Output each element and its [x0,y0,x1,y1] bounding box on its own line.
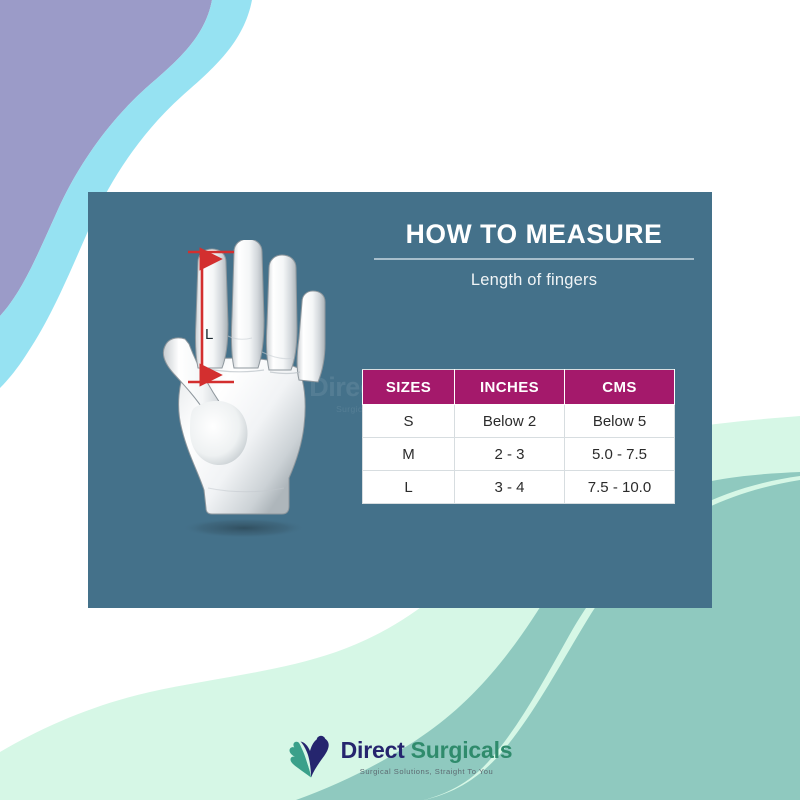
cell-cms: 7.5 - 10.0 [565,471,675,504]
finger-index [195,249,228,368]
cell-inches: 2 - 3 [455,438,565,471]
hand-shadow [182,518,306,538]
screenshot-canvas: Direct Surgicals Surgical Solutions, Str… [0,0,800,800]
table-row: M 2 - 3 5.0 - 7.5 [363,438,675,471]
cell-cms: Below 5 [565,405,675,438]
logo-text-block: DirectSurgicals Surgical Solutions, Stra… [341,739,513,776]
measure-label-L: L [205,327,213,342]
hand-illustration: L [132,240,352,570]
page-title: HOW TO MEASURE [374,220,694,249]
title-divider [374,258,694,260]
finger-ring [266,255,297,370]
size-chart-table: SIZES INCHES CMS S Below 2 Below 5 M 2 -… [362,369,675,504]
cell-cms: 5.0 - 7.5 [565,438,675,471]
table-header-row: SIZES INCHES CMS [363,370,675,405]
info-panel: Direct Surgicals Surgical Solutions, Str… [88,192,712,608]
brand-logo: DirectSurgicals Surgical Solutions, Stra… [0,726,800,788]
column-header-inches: INCHES [455,370,565,405]
logo-tagline: Surgical Solutions, Straight To You [360,767,493,776]
logo-word-direct: Direct [341,737,405,763]
logo-wordmark: DirectSurgicals [341,739,513,762]
thenar-mound [190,401,248,465]
column-header-sizes: SIZES [363,370,455,405]
cell-inches: 3 - 4 [455,471,565,504]
cell-inches: Below 2 [455,405,565,438]
finger-little [297,291,325,382]
logo-word-surgicals: Surgicals [411,737,513,763]
page-subtitle: Length of fingers [374,271,694,290]
table-row: S Below 2 Below 5 [363,405,675,438]
cell-size: S [363,405,455,438]
cell-size: L [363,471,455,504]
heart-hand-logo-icon [288,735,334,779]
cell-size: M [363,438,455,471]
column-header-cms: CMS [565,370,675,405]
table-row: L 3 - 4 7.5 - 10.0 [363,471,675,504]
panel-heading: HOW TO MEASURE Length of fingers [374,220,694,290]
logo-figure-head-dot [317,736,325,745]
finger-middle [231,240,264,368]
